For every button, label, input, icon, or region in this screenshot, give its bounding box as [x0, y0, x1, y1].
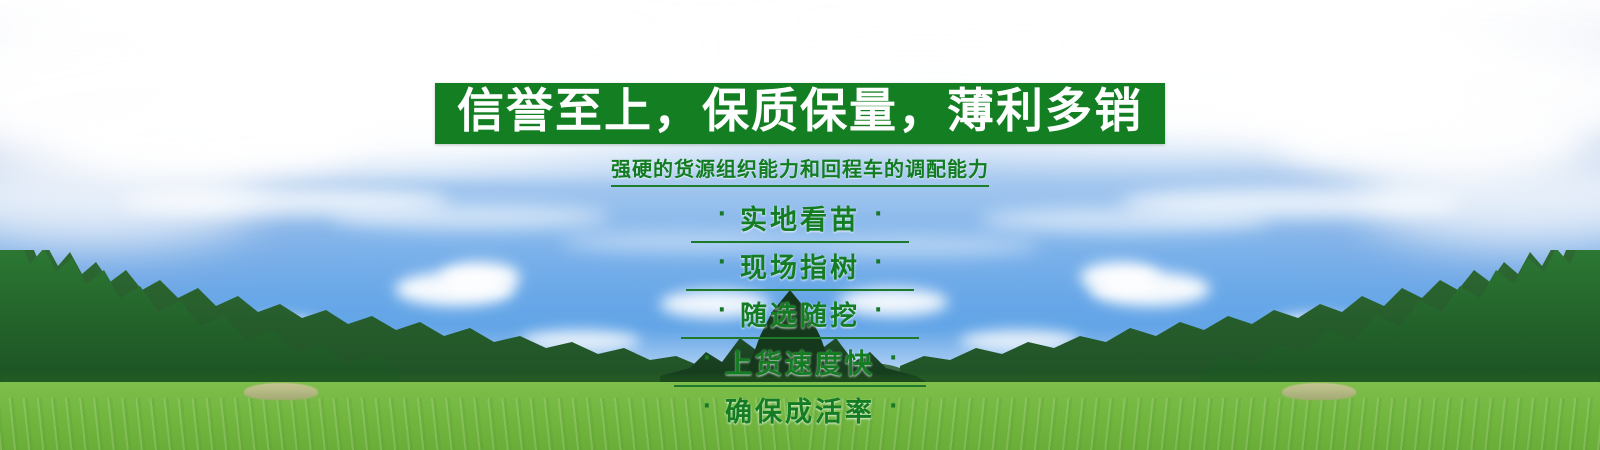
banner-content: 信誉至上，保质保量，薄利多销 强硬的货源组织能力和回程车的调配能力 · 实地看苗…	[0, 0, 1600, 450]
feature-label: 现场指树	[728, 246, 872, 285]
headline-banner: 信誉至上，保质保量，薄利多销	[435, 83, 1165, 144]
feature-label: 实地看苗	[728, 198, 872, 237]
bullet-dot-icon: ·	[887, 348, 899, 375]
bullet-dot-icon: ·	[716, 300, 728, 327]
headline-text: 信誉至上，保质保量，薄利多销	[457, 88, 1143, 135]
feature-item: · 确保成活率 ·	[671, 390, 929, 433]
bullet-dot-icon: ·	[872, 300, 884, 327]
bullet-dot-icon: ·	[716, 252, 728, 279]
bullet-dot-icon: ·	[872, 252, 884, 279]
feature-label: 随选随挖	[728, 294, 872, 333]
feature-list: · 实地看苗 · · 现场指树 · · 随选随挖 · · 上货速度快 · ·	[671, 198, 929, 436]
feature-item: · 实地看苗 ·	[691, 198, 909, 243]
subtitle-text: 强硬的货源组织能力和回程车的调配能力	[611, 153, 989, 187]
feature-item: · 上货速度快 ·	[674, 342, 926, 387]
feature-label: 上货速度快	[713, 342, 887, 381]
bullet-dot-icon: ·	[701, 348, 713, 375]
feature-item: · 随选随挖 ·	[681, 294, 919, 339]
bullet-dot-icon: ·	[701, 396, 713, 423]
promo-banner: 信誉至上，保质保量，薄利多销 强硬的货源组织能力和回程车的调配能力 · 实地看苗…	[0, 0, 1600, 450]
bullet-dot-icon: ·	[887, 396, 899, 423]
feature-label: 确保成活率	[713, 390, 887, 429]
feature-item: · 现场指树 ·	[686, 246, 914, 291]
bullet-dot-icon: ·	[716, 204, 728, 231]
bullet-dot-icon: ·	[872, 204, 884, 231]
